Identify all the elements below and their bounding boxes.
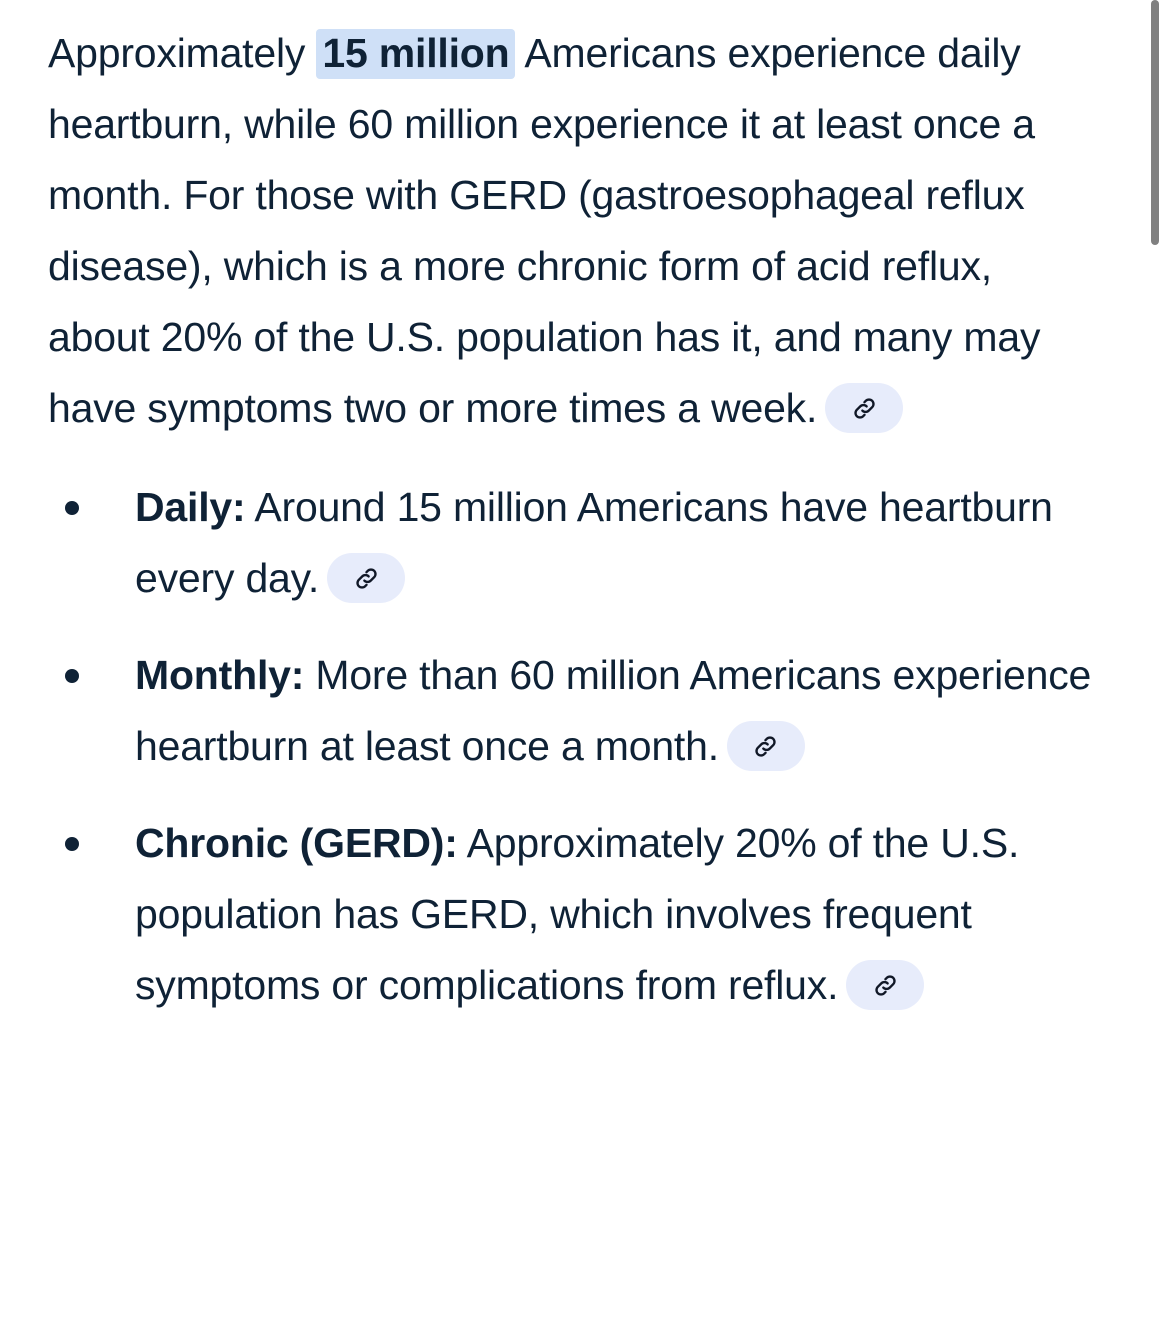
link-icon (872, 972, 899, 999)
citation-link-button[interactable] (825, 383, 903, 433)
link-icon (752, 733, 779, 760)
article-body: Approximately 15 million Americans exper… (0, 0, 1140, 1021)
link-icon (851, 395, 878, 422)
list-item-lead: Monthly: (135, 652, 304, 698)
bullet-marker-icon (65, 501, 79, 515)
statistics-list: Daily: Around 15 million Americans have … (48, 472, 1100, 1021)
intro-paragraph: Approximately 15 million Americans exper… (48, 18, 1100, 444)
citation-link-button[interactable] (727, 721, 805, 771)
citation-link-button[interactable] (327, 553, 405, 603)
scrollbar[interactable] (1150, 0, 1160, 1325)
bullet-marker-icon (65, 837, 79, 851)
list-item-text: Around 15 million Americans have heartbu… (135, 484, 1053, 601)
list-item: Monthly: More than 60 million Americans … (48, 640, 1100, 782)
bullet-marker-icon (65, 669, 79, 683)
list-item: Daily: Around 15 million Americans have … (48, 472, 1100, 614)
list-item: Chronic (GERD): Approximately 20% of the… (48, 808, 1100, 1021)
highlighted-statistic: 15 million (316, 29, 515, 79)
list-item-lead: Daily: (135, 484, 245, 530)
link-icon (353, 565, 380, 592)
list-item-lead: Chronic (GERD): (135, 820, 458, 866)
paragraph-text-before-highlight: Approximately (48, 30, 316, 76)
citation-link-button[interactable] (846, 960, 924, 1010)
scrollbar-thumb[interactable] (1151, 0, 1159, 245)
paragraph-text-after-highlight: Americans experience daily heartburn, wh… (48, 30, 1040, 431)
